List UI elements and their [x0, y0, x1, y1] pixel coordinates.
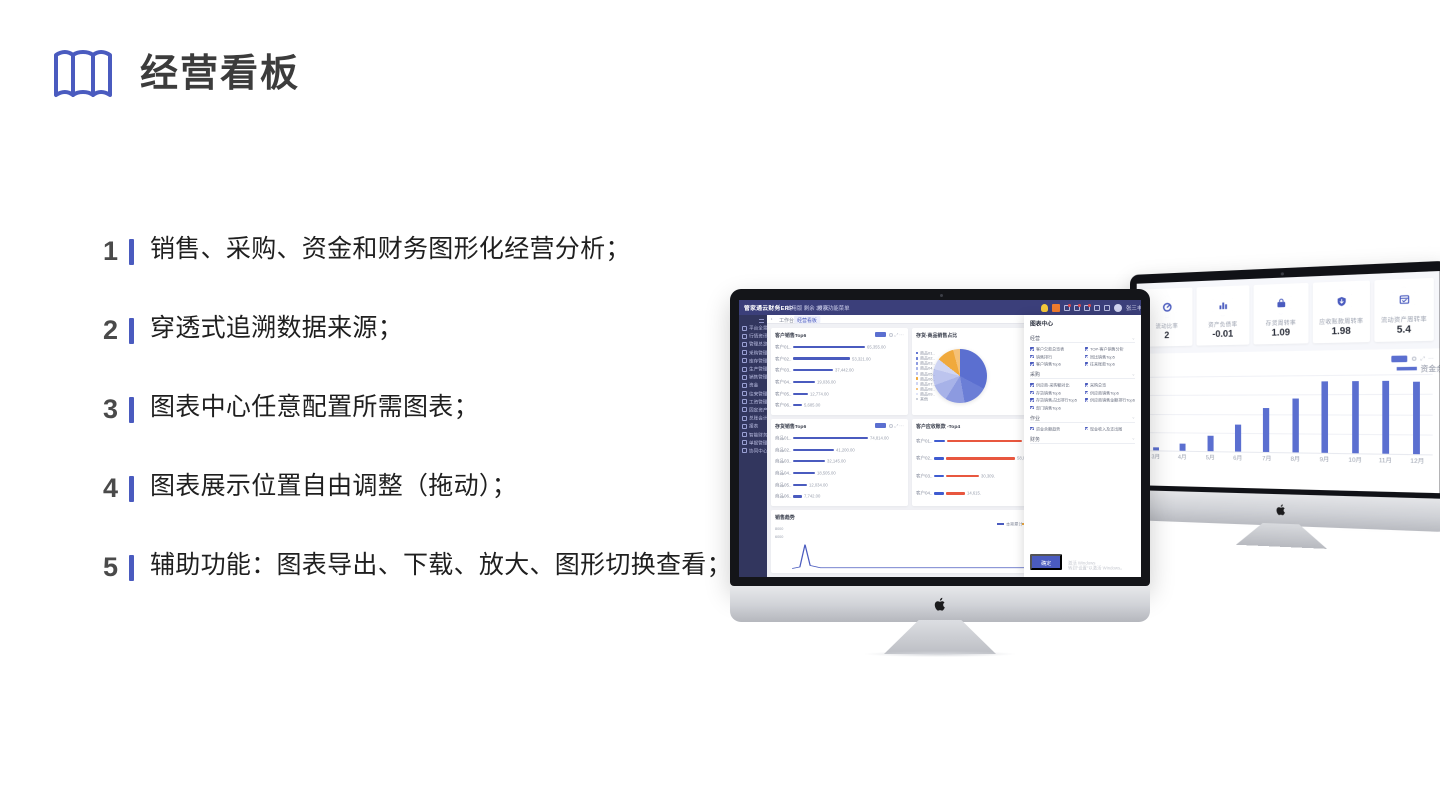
imac-secondary-screen: 流动比率 2 资产负债率 -0.01	[1137, 271, 1440, 493]
sidebar-item-label: 生产管理	[749, 366, 768, 372]
imac-primary-foot-shadow	[865, 651, 1015, 657]
checkbox-item[interactable]: 客户欠款总览表	[1030, 347, 1081, 351]
drawer-section-sales: 经营 ⌄ 客户欠款总览表 TOP-客户销售分析 销售排行 同比销售Top5 客户…	[1030, 335, 1135, 366]
bar-value: 32,145.00	[827, 458, 846, 464]
bar-label: 客户04..	[775, 379, 800, 385]
more-icon[interactable]: ⋯	[1428, 355, 1434, 362]
checkbox-icon[interactable]	[1030, 406, 1034, 410]
bar-value: 74,814.00	[870, 435, 889, 441]
checkbox-item[interactable]: TOP-客户销售分析	[1085, 347, 1136, 351]
bar-label: 商品05..	[775, 482, 800, 488]
drawer-footer: 确定 激活 Windows 转到"设置"以激活 Windows。	[1030, 548, 1135, 570]
checkbox-icon[interactable]	[1085, 347, 1089, 351]
checkbox-item[interactable]: 往来账款Top6	[1085, 362, 1136, 366]
y-tick: 8000	[775, 528, 783, 532]
hbar-chart: 客户01..65,355.00 客户02..53,321.00 客户03..37…	[775, 340, 904, 412]
bar-label: 商品02..	[775, 447, 800, 453]
bar-row: 商品02..41,200.00	[775, 448, 904, 452]
card-header: 销售趋势	[775, 514, 1044, 519]
webcam-icon	[940, 294, 943, 297]
kpi-value: 2	[1143, 329, 1190, 340]
legend-item: 商品06..	[916, 377, 930, 381]
section-header[interactable]: 财务 ⌄	[1030, 436, 1135, 444]
list-item-number: 4	[96, 469, 118, 507]
kpi-card[interactable]: 存货周转率 1.09	[1254, 283, 1309, 345]
chart-type-toggle[interactable]	[1391, 356, 1407, 363]
app-sidebar: 平台全景 行情资讯 管理总览 采购管理 库存管理 生产管理 销售管理 资金 往来…	[739, 315, 767, 577]
legend-label: 资金余额	[1420, 363, 1439, 374]
kpi-value: 5.4	[1377, 323, 1432, 335]
file-icon	[742, 440, 747, 445]
funds-balance-bar-chart: ⤢ ⋯ 资金余额	[1137, 348, 1440, 478]
checkbox-label: 供应商-采购额对比	[1036, 382, 1070, 388]
map-book-icon	[52, 46, 114, 102]
bar-label: 客户06..	[775, 402, 800, 408]
checkbox-item[interactable]: 采购总览	[1085, 383, 1136, 387]
list-item-text: 图表中心任意配置所需图表；	[150, 390, 479, 426]
cart-icon	[742, 350, 747, 355]
list-item-marker	[129, 476, 134, 502]
card-goods-sales-top6: 存货销售Top6 ⤢ ⋯	[771, 419, 908, 506]
list-item-marker	[129, 318, 134, 344]
pie-legend: 商品01.. 商品02.. 商品03.. 商品04.. 商品05.. 商品06.…	[916, 351, 930, 401]
checkbox-item[interactable]: 销售排行	[1030, 355, 1081, 359]
bar-row: 客户05..12,774.00	[775, 392, 904, 396]
avatar[interactable]	[1114, 304, 1122, 312]
sidebar-item-label: 行情资讯	[749, 333, 768, 339]
sidebar-item-funds[interactable]: 资金	[739, 381, 767, 389]
app-topbar: 管家通云财务ERP 试用版 剩余 30 天 搜索功能菜单	[739, 300, 1141, 315]
sidebar-item-ledger[interactable]: 总账会计	[739, 414, 767, 422]
chevron-down-icon[interactable]: ⌄	[1132, 335, 1136, 341]
checkbox-item[interactable]: 客户销售Top6	[1030, 362, 1081, 366]
card-title: 客户销售Top6	[775, 331, 806, 339]
expand-icon[interactable]: ⤢	[1420, 355, 1425, 362]
card-title: 存货销售Top6	[775, 422, 806, 430]
bar-row: 客户06..5,685.00	[775, 403, 904, 407]
calendar-icon[interactable]	[1052, 304, 1060, 312]
drawer-section-finance: 财务 ⌄	[1030, 436, 1135, 448]
checkbox-label: TOP-客户销售分析	[1090, 346, 1124, 352]
checkbox-label: 资金余额趋势	[1036, 426, 1060, 432]
checkbox-item[interactable]: 现金收入及支出图	[1085, 427, 1136, 431]
page-title: 经营看板	[140, 55, 300, 93]
section-name: 作业	[1030, 413, 1040, 421]
checkbox-icon[interactable]	[1030, 398, 1034, 402]
factory-icon	[742, 367, 747, 372]
bar-label: 客户05..	[775, 390, 800, 396]
chart-center-drawer: 图表中心 经营 ⌄ 客户欠款总览表 TOP-客户销售分析 销售排行 同比销售To…	[1024, 315, 1141, 577]
section-header[interactable]: 经营 ⌄	[1030, 335, 1135, 343]
kpi-card[interactable]: 流动资产周转率 5.4	[1374, 278, 1433, 342]
bar-column	[1340, 375, 1370, 454]
sidebar-item-label: 协同中心	[749, 448, 768, 454]
bar-value: 12,774.00	[810, 391, 829, 397]
confirm-button-label: 确定	[1041, 558, 1051, 566]
bar-value: 12,034.00	[809, 482, 828, 488]
list-item-number: 1	[96, 232, 118, 270]
checkbox-icon[interactable]	[1085, 427, 1089, 431]
inventory-icon	[1270, 291, 1291, 315]
bar-column	[1196, 376, 1224, 451]
apple-logo-icon	[934, 597, 947, 612]
sidebar-item-label: 总账会计	[749, 415, 768, 421]
card-toolbar[interactable]: ⤢ ⋯	[875, 423, 904, 428]
checkbox-icon[interactable]	[1085, 391, 1089, 395]
list-item-number: 3	[96, 390, 118, 428]
chart-plot-area	[1142, 374, 1432, 456]
checkbox-label: 部门销售Top6	[1036, 405, 1061, 411]
bar-column	[1401, 374, 1433, 455]
checkbox-icon[interactable]	[1085, 355, 1089, 359]
list-item-text: 辅助功能：图表导出、下载、放大、图形切换查看；	[150, 548, 732, 584]
kpi-card[interactable]: 应收账款周转率 1.98	[1313, 280, 1370, 343]
device-mockups: 流动比率 2 资产负债率 -0.01	[700, 270, 1440, 690]
checkbox-icon[interactable]	[1030, 391, 1034, 395]
refresh-icon[interactable]	[889, 424, 893, 428]
bar-row: 商品06..7,742.00	[775, 494, 904, 498]
bar-label: 客户02..	[916, 455, 941, 461]
bar-row: 商品05..12,034.00	[775, 483, 904, 487]
sidebar-item-label: 销售管理	[749, 374, 768, 380]
sidebar-item-sales[interactable]: 销售管理	[739, 373, 767, 381]
windows-activation-watermark: 激活 Windows 转到"设置"以激活 Windows。	[1068, 561, 1106, 570]
list-item-marker	[129, 397, 134, 423]
checkbox-item[interactable]: 存货销售Top6	[1030, 391, 1081, 395]
webcam-icon	[1281, 272, 1284, 275]
sidebar-item-fixed-assets[interactable]: 固定资产	[739, 406, 767, 414]
checkbox-item[interactable]: 资金余额趋势	[1030, 427, 1081, 431]
chevron-down-icon[interactable]: ⌄	[1132, 371, 1136, 377]
dashboard-icon	[742, 342, 747, 347]
card-header: 存货销售Top6 ⤢ ⋯	[775, 423, 904, 428]
bar-row: 商品04..18,505.00	[775, 471, 904, 475]
line-series	[787, 540, 1044, 570]
apple-logo-icon	[1275, 504, 1287, 517]
legend-label: 本期累计	[1006, 521, 1023, 527]
section-items: 资金余额趋势 现金收入及支出图	[1030, 427, 1135, 431]
refresh-icon[interactable]	[889, 333, 893, 337]
bar-value: 7,742.00	[804, 493, 820, 499]
bar-label: 商品06..	[775, 493, 800, 499]
checkbox-label: 现金收入及支出图	[1090, 426, 1122, 432]
x-tick: 12月	[1392, 452, 1440, 467]
back-icon[interactable]: ‹	[771, 316, 773, 322]
sidebar-item-label: 报表	[749, 423, 758, 429]
bar-label: 客户01..	[775, 344, 800, 350]
imac-primary-bezel: 管家通云财务ERP 试用版 剩余 30 天 搜索功能菜单	[730, 289, 1150, 586]
bar-value: 18,505.00	[817, 470, 836, 476]
bar-label: 商品04..	[775, 470, 800, 476]
watermark-subtitle: 转到"设置"以激活 Windows。	[1068, 565, 1125, 572]
calendar-check-icon	[1392, 286, 1415, 311]
gauge-icon	[1157, 295, 1177, 318]
chevron-down-icon[interactable]: ⌄	[1132, 414, 1136, 420]
section-name: 采购	[1030, 370, 1040, 378]
bar-value: 30,309.	[981, 473, 995, 479]
sidebar-item-news[interactable]: 行情资讯	[739, 332, 767, 340]
bar-label: 客户02..	[775, 355, 800, 361]
card-sales-trend: 销售趋势 本期累计 同期累计 8000	[771, 510, 1048, 573]
hamburger-icon	[759, 319, 764, 323]
list-item-marker	[129, 239, 134, 265]
tag-icon	[742, 375, 747, 380]
sidebar-item-label: 采购管理	[749, 349, 768, 355]
sidebar-item-label: 工资管理	[749, 399, 768, 405]
list-item-text: 穿透式追溯数据来源；	[150, 311, 403, 347]
checkbox-icon[interactable]	[1030, 427, 1034, 431]
bar-label: 商品03..	[775, 458, 800, 464]
tab-dashboard[interactable]: 经营看板	[794, 315, 820, 323]
section-header[interactable]: 作业 ⌄	[1030, 415, 1135, 423]
sidebar-item-reports[interactable]: 报表	[739, 422, 767, 430]
expand-icon[interactable]: ⤢	[894, 332, 898, 338]
bar-row: 客户03..37,442.00	[775, 368, 904, 372]
exchange-icon	[742, 391, 747, 396]
imac-secondary-bezel: 流动比率 2 资产负债率 -0.01	[1130, 261, 1440, 501]
list-item-number: 2	[96, 311, 118, 349]
checkbox-label: 采购总览	[1090, 382, 1106, 388]
list-item: 4 图表展示位置自由调整（拖动）；	[96, 469, 736, 507]
report-icon	[742, 424, 747, 429]
checkbox-label: 供应商销售Top6	[1090, 390, 1119, 396]
kpi-strip: 流动比率 2 资产负债率 -0.01	[1137, 271, 1440, 354]
checkbox-label: 客户销售Top6	[1036, 361, 1061, 367]
section-items: 供应商-采购额对比 采购总览 存货销售Top6 供应商销售Top6 存货销售占比…	[1030, 383, 1135, 410]
sidebar-item-label: 平台全景	[749, 325, 768, 331]
checkbox-item[interactable]: 存货销售占比排行Top5	[1030, 398, 1081, 402]
list-item-text: 图表展示位置自由调整（拖动）；	[150, 469, 517, 505]
message-icon[interactable]	[1064, 305, 1070, 311]
bar-column	[1252, 375, 1281, 452]
card-header: 客户销售Top6 ⤢ ⋯	[775, 332, 904, 337]
more-icon[interactable]: ⋯	[899, 423, 904, 429]
list-item: 5 辅助功能：图表导出、下载、放大、图形切换查看；	[96, 548, 736, 586]
bar-value: 14,615.	[967, 490, 981, 496]
bell-icon[interactable]	[1084, 305, 1090, 311]
checkbox-icon[interactable]	[1085, 398, 1089, 402]
chip-icon	[742, 432, 747, 437]
feature-list: 1 销售、采购、资金和财务图形化经营分析； 2 穿透式追溯数据来源； 3 图表中…	[96, 232, 736, 586]
checkbox-label: 客户欠款总览表	[1036, 346, 1064, 352]
bar-row: 客户04..19,036.00	[775, 380, 904, 384]
bar-row: 商品01..74,814.00	[775, 436, 904, 440]
legend-item: 资金余额	[1396, 365, 1439, 373]
bar-label: 客户03..	[916, 473, 941, 479]
sidebar-item-production[interactable]: 生产管理	[739, 365, 767, 373]
sidebar-item-label: 库存管理	[749, 358, 768, 364]
checkbox-icon[interactable]	[1030, 347, 1034, 351]
checkbox-label: 销售排行	[1036, 354, 1052, 360]
sidebar-item-label: 资金	[749, 382, 758, 388]
wallet-icon	[742, 399, 747, 404]
sidebar-item-overview[interactable]: 管理总览	[739, 340, 767, 348]
coin-icon	[742, 383, 747, 388]
chart-type-toggle[interactable]	[875, 332, 886, 337]
more-icon[interactable]: ⋯	[899, 332, 904, 338]
checkbox-item[interactable]: 供应商销售Top6	[1085, 391, 1136, 395]
chart-legend: 资金余额	[1142, 366, 1432, 374]
bar-label: 客户04..	[916, 490, 941, 496]
card-title: 销售趋势	[775, 513, 795, 521]
section-name: 经营	[1030, 334, 1040, 342]
bar-row: 客户01..65,355.00	[775, 345, 904, 349]
checkbox-icon[interactable]	[1030, 383, 1034, 387]
sidebar-item-platform[interactable]: 平台全景	[739, 324, 767, 332]
checkbox-item[interactable]: 供应商-采购额对比	[1030, 383, 1081, 387]
sidebar-item-label: 智能财务	[749, 431, 768, 437]
legend-item: 其他	[916, 397, 930, 401]
legend-item: 本期累计	[997, 522, 1017, 526]
checkbox-icon[interactable]	[1030, 362, 1034, 366]
drawer-section-operations: 作业 ⌄ 资金余额趋势 现金收入及支出图	[1030, 415, 1135, 431]
sidebar-item-label: 单据管理	[749, 440, 768, 446]
checkbox-label: 同比销售Top5	[1090, 354, 1115, 360]
legend-label: 其他	[920, 396, 928, 402]
kpi-value: 1.98	[1315, 325, 1368, 337]
checkbox-item[interactable]: 同比销售Top5	[1085, 355, 1136, 359]
imac-secondary: 流动比率 2 资产负债率 -0.01	[1130, 261, 1440, 555]
bar-column	[1310, 375, 1340, 453]
bar-chart-icon	[1213, 293, 1233, 316]
imac-primary-screen: 管家通云财务ERP 试用版 剩余 30 天 搜索功能菜单	[739, 300, 1141, 577]
list-item: 3 图表中心任意配置所需图表；	[96, 390, 736, 428]
news-icon	[742, 334, 747, 339]
section-items: 客户欠款总览表 TOP-客户销售分析 销售排行 同比销售Top5 客户销售Top…	[1030, 347, 1135, 366]
sidebar-item-label: 管理总览	[749, 341, 768, 347]
users-icon	[742, 448, 747, 453]
bar-value: 5,685.00	[804, 402, 820, 408]
bar-row: 客户02..53,321.00	[775, 357, 904, 361]
sidebar-item-documents[interactable]: 单据管理	[739, 439, 767, 447]
section-name: 财务	[1030, 434, 1040, 442]
imac-primary: 管家通云财务ERP 试用版 剩余 30 天 搜索功能菜单	[730, 289, 1150, 654]
checkbox-label: 存货销售占比排行Top5	[1036, 397, 1077, 403]
list-item-text: 销售、采购、资金和财务图形化经营分析；	[150, 232, 631, 268]
bar-column	[1224, 376, 1252, 452]
box-icon	[742, 358, 747, 363]
user-name[interactable]: 张三丰	[1126, 303, 1141, 312]
checkbox-icon[interactable]	[1085, 383, 1089, 387]
refresh-icon[interactable]	[1412, 356, 1417, 360]
checkbox-label: 供应商销售金额排行Top6	[1090, 397, 1135, 403]
legend-item: 商品04..	[916, 366, 930, 370]
bar-column	[1370, 374, 1401, 454]
bar-value: 37,442.00	[835, 367, 854, 373]
sidebar-item-label: 往来管理	[749, 390, 768, 396]
sidebar-item-ar-ap[interactable]: 往来管理	[739, 390, 767, 398]
checkbox-label: 往来账款Top6	[1090, 361, 1115, 367]
bar-row: 商品03..32,145.00	[775, 459, 904, 463]
bar-label: 客户01..	[916, 438, 941, 444]
imac-primary-stand	[884, 620, 996, 654]
chevron-down-icon[interactable]: ⌄	[1132, 435, 1136, 441]
help-icon[interactable]	[1094, 305, 1100, 311]
checkbox-icon[interactable]	[1085, 362, 1089, 366]
pie-graphic	[933, 349, 987, 403]
y-tick: 6000	[775, 536, 783, 540]
kpi-value: -0.01	[1198, 328, 1247, 340]
checkbox-item[interactable]: 供应商销售金额排行Top6	[1085, 398, 1136, 402]
imac-primary-chin	[730, 586, 1150, 622]
bulb-icon[interactable]	[1041, 304, 1048, 312]
sidebar-item-smart-finance[interactable]: 智能财务	[739, 430, 767, 438]
checkbox-item[interactable]: 部门销售Top6	[1030, 406, 1081, 410]
card-toolbar[interactable]: ⤢ ⋯	[875, 332, 904, 337]
drawer-title: 图表中心	[1030, 321, 1141, 329]
card-title: 存货-商品销售占比	[916, 331, 957, 339]
bar-value: 19,036.00	[817, 379, 836, 385]
chart-toolbar[interactable]: ⤢ ⋯	[1142, 355, 1432, 366]
bar-column	[1169, 376, 1196, 451]
confirm-button[interactable]: 确定	[1030, 554, 1062, 570]
sidebar-item-inventory[interactable]: 库存管理	[739, 357, 767, 365]
legend-swatch	[1396, 367, 1416, 371]
bar-label: 商品01..	[775, 435, 800, 441]
checkbox-icon[interactable]	[1030, 355, 1034, 359]
kpi-card[interactable]: 资产负债率 -0.01	[1196, 285, 1249, 345]
list-item: 1 销售、采购、资金和财务图形化经营分析；	[96, 232, 736, 270]
bar-label: 客户03..	[775, 367, 800, 373]
list-item: 2 穿透式追溯数据来源；	[96, 311, 736, 349]
sidebar-item-payroll[interactable]: 工资管理	[739, 398, 767, 406]
checkbox-label: 存货销售Top6	[1036, 390, 1061, 396]
card-customer-sales-top6: 客户销售Top6 ⤢ ⋯	[771, 328, 908, 415]
sidebar-item-collab[interactable]: 协同中心	[739, 447, 767, 455]
card-title: 客户应收账款 -Top4	[916, 422, 960, 430]
page-header: 经营看板	[52, 46, 300, 102]
chart-type-toggle[interactable]	[875, 423, 886, 428]
list-item-number: 5	[96, 548, 118, 586]
settings-icon[interactable]	[1104, 305, 1110, 311]
kpi-value: 1.09	[1256, 326, 1307, 338]
bar-value: 41,200.00	[836, 447, 855, 453]
topbar-actions: 张三丰	[1041, 304, 1136, 312]
bar-column	[1281, 375, 1310, 452]
bar-value: 65,355.00	[867, 344, 886, 350]
mail-icon[interactable]	[1074, 305, 1080, 311]
bar-value: 53,321.00	[852, 356, 871, 362]
expand-icon[interactable]: ⤢	[894, 423, 898, 429]
line-chart: 本期累计 同期累计 8000 6000	[775, 522, 1044, 570]
receivable-icon	[1330, 289, 1352, 313]
book-icon	[742, 416, 747, 421]
hbar-chart: 商品01..74,814.00 商品02..41,200.00 商品03..32…	[775, 431, 904, 503]
search-menu-input[interactable]: 搜索功能菜单	[817, 303, 850, 312]
list-item-marker	[129, 555, 134, 581]
chart-y-axis: 8000 6000	[775, 528, 781, 539]
drawer-section-purchase: 采购 ⌄ 供应商-采购额对比 采购总览 存货销售Top6 供应商销售Top6 存…	[1030, 371, 1135, 410]
sidebar-item-purchase[interactable]: 采购管理	[739, 349, 767, 357]
building-icon	[742, 407, 747, 412]
legend-item: 商品05..	[916, 372, 930, 376]
home-icon	[742, 326, 747, 331]
sidebar-item-label: 固定资产	[749, 407, 768, 413]
slide-root: 经营看板 1 销售、采购、资金和财务图形化经营分析； 2 穿透式追溯数据来源； …	[0, 0, 1440, 810]
section-header[interactable]: 采购 ⌄	[1030, 371, 1135, 379]
